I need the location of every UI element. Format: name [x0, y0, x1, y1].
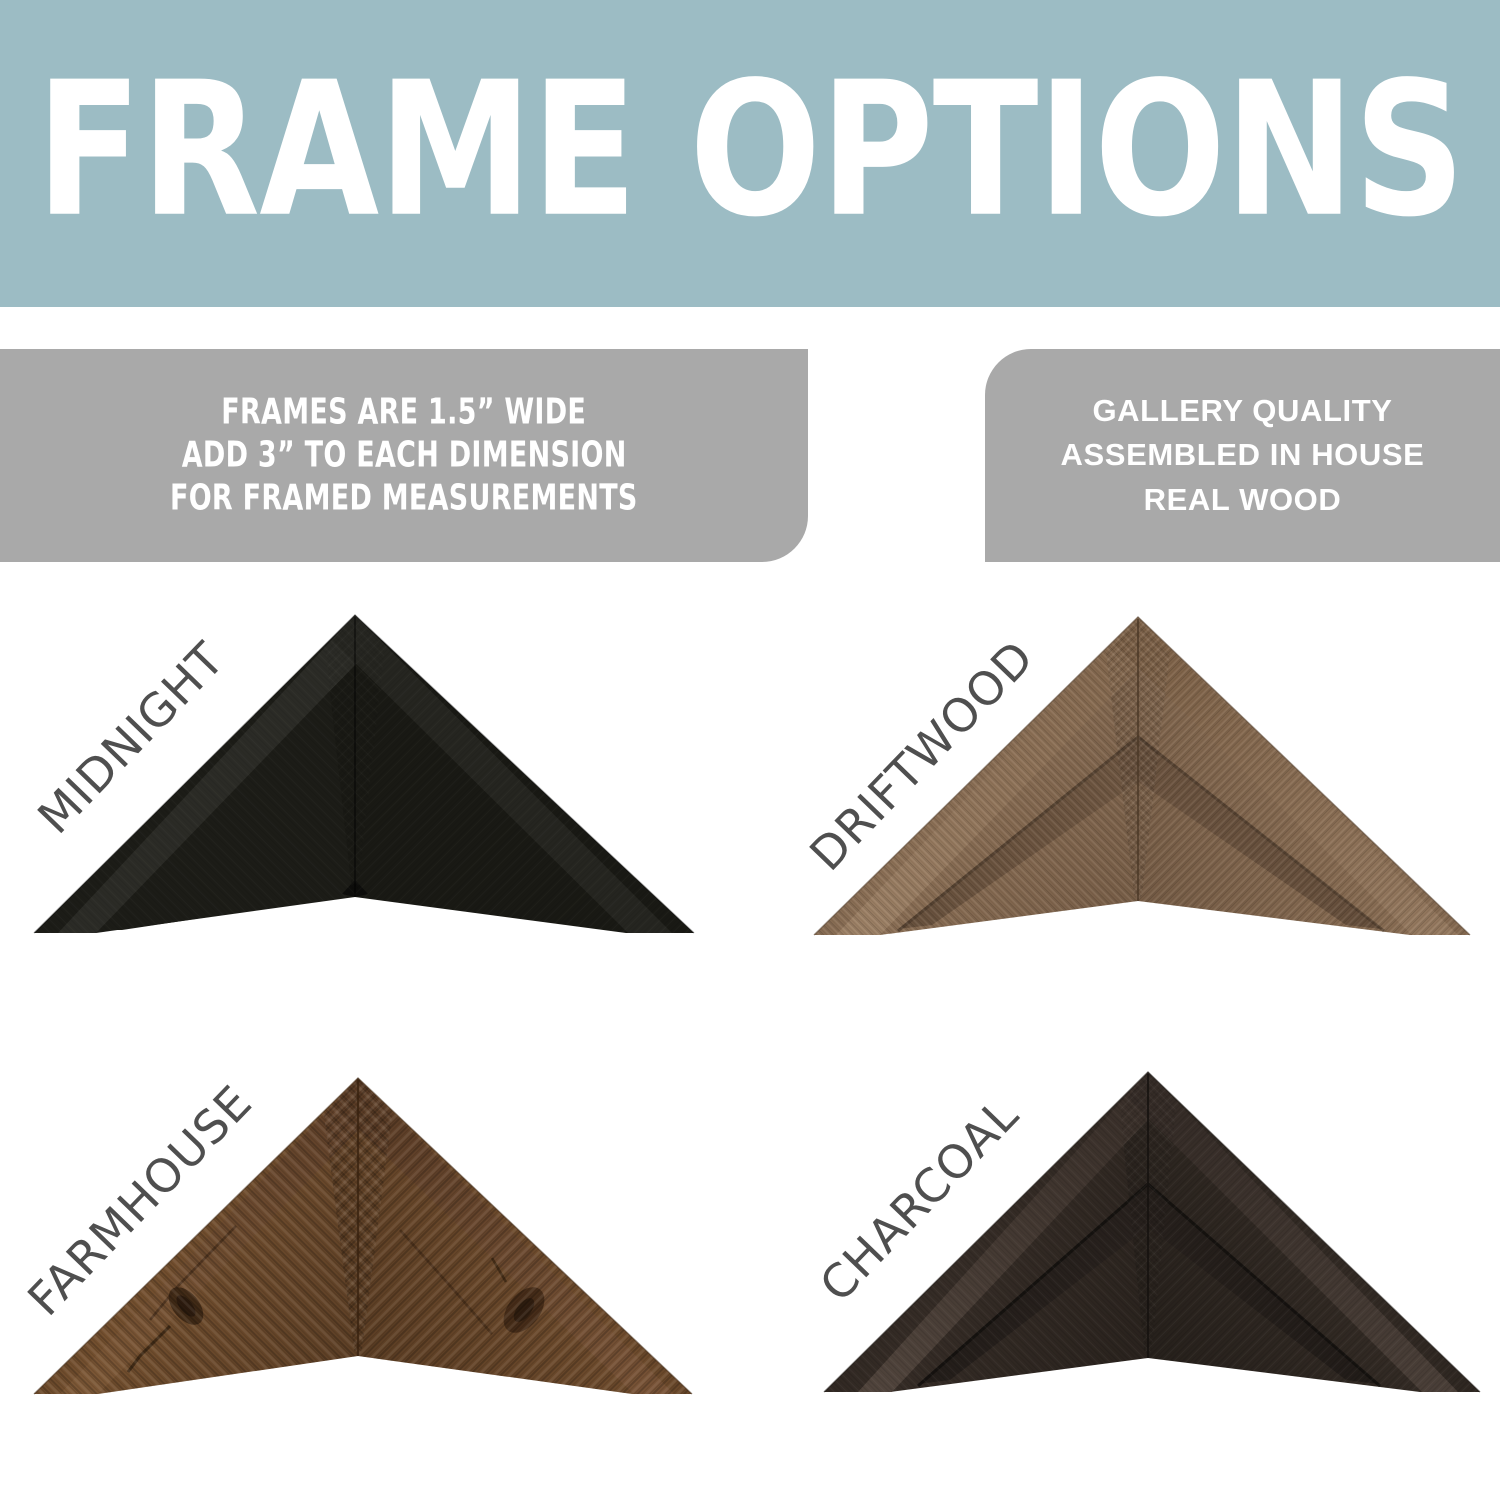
quality-line-1: GALLERY QUALITY — [1092, 389, 1392, 433]
measurements-info-panel: FRAMES ARE 1.5” WIDE ADD 3” TO EACH DIME… — [0, 349, 808, 562]
quality-info-panel: GALLERY QUALITY ASSEMBLED IN HOUSE REAL … — [985, 349, 1500, 562]
quality-line-3: REAL WOOD — [1144, 478, 1342, 522]
measurements-line-3: FOR FRAMED MEASUREMENTS — [170, 473, 638, 524]
quality-line-2: ASSEMBLED IN HOUSE — [1061, 433, 1425, 477]
page-title: FRAME OPTIONS — [36, 57, 1464, 250]
header-banner: FRAME OPTIONS — [0, 0, 1500, 307]
